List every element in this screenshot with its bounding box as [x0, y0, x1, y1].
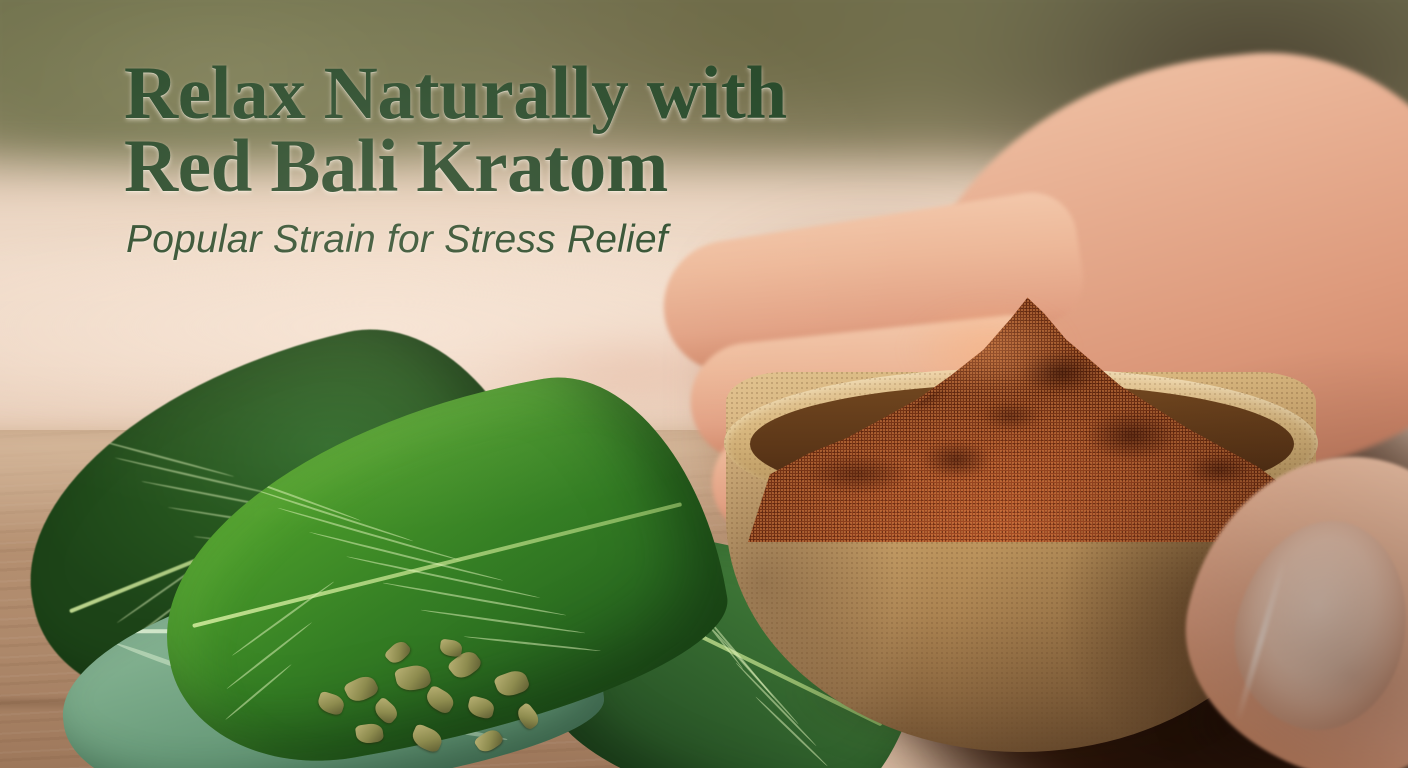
- kratom-hero-banner: Relax Naturally with Red Bali Kratom Pop…: [0, 0, 1408, 768]
- dried-leaf-flakes: [300, 632, 580, 764]
- subtitle: Popular Strain for Stress Relief: [126, 218, 668, 262]
- headline-line-1: Relax Naturally with: [124, 57, 787, 131]
- kratom-powder-highlight: [880, 292, 1140, 442]
- headline-line-2: Red Bali Kratom: [124, 130, 668, 204]
